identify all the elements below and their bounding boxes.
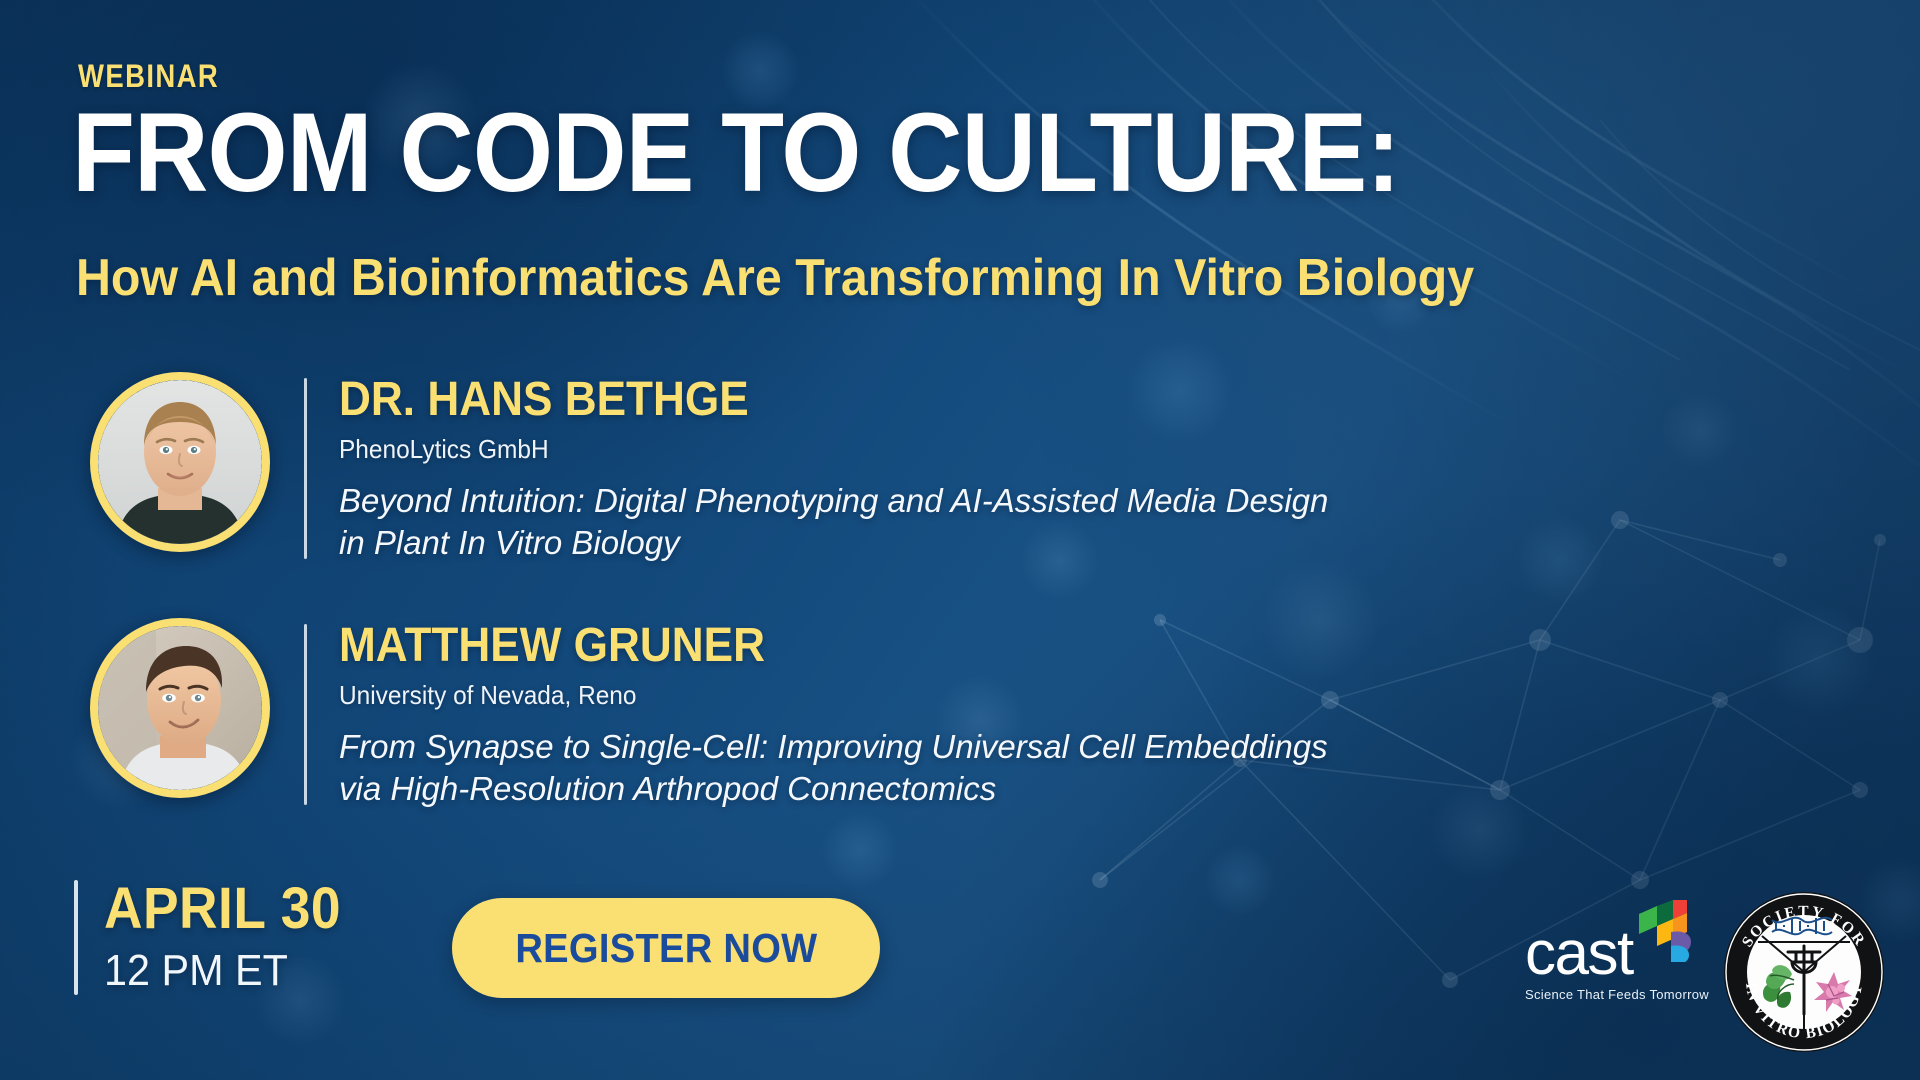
speaker-name: DR. HANS BETHGE — [339, 376, 1268, 425]
date-divider — [74, 880, 78, 995]
cast-logo: cast Science That Feeds Tomorrow — [1525, 900, 1705, 1002]
speaker-talk-title: Beyond Intuition: Digital Phenotyping an… — [339, 480, 1349, 566]
speaker-affiliation: PhenoLytics GmbH — [339, 435, 1288, 464]
register-now-button[interactable]: REGISTER NOW — [452, 898, 880, 998]
cast-wordmark: cast — [1525, 930, 1633, 978]
speaker-name: MATTHEW GRUNER — [339, 622, 1268, 671]
event-time: 12 PM ET — [104, 946, 346, 995]
speaker-card: DR. HANS BETHGE PhenoLytics GmbH Beyond … — [90, 372, 1349, 565]
portrait-hans-bethge-icon — [98, 380, 262, 544]
page-subtitle: How AI and Bioinformatics Are Transformi… — [76, 248, 1750, 308]
avatar — [90, 372, 270, 552]
speaker-affiliation: University of Nevada, Reno — [339, 681, 1288, 710]
event-date: APRIL 30 — [104, 880, 341, 938]
sivb-seal-logo: SOCIETY FOR IN VITRO BIOLOGY — [1720, 888, 1888, 1056]
cast-tagline: Science That Feeds Tomorrow — [1525, 987, 1705, 1002]
speaker-card: MATTHEW GRUNER University of Nevada, Ren… — [90, 618, 1349, 811]
cast-leaf-mark-icon — [1637, 900, 1693, 962]
speaker-divider — [304, 378, 307, 559]
page-title: FROM CODE TO CULTURE: — [72, 100, 1719, 206]
avatar — [90, 618, 270, 798]
portrait-matthew-gruner-icon — [98, 626, 262, 790]
register-now-label: REGISTER NOW — [515, 925, 817, 972]
speaker-divider — [304, 624, 307, 805]
speaker-talk-title: From Synapse to Single-Cell: Improving U… — [339, 726, 1349, 812]
event-datetime: APRIL 30 12 PM ET — [74, 880, 362, 995]
